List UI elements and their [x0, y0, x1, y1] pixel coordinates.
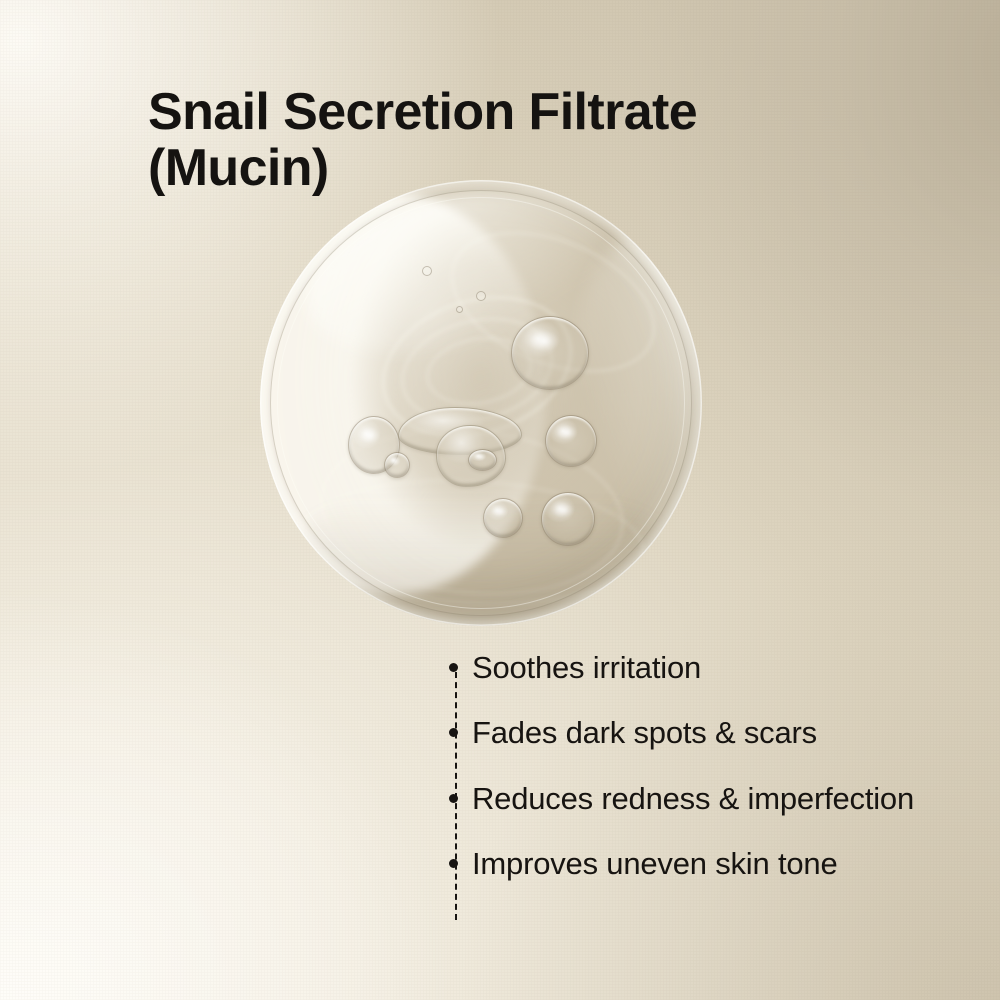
bubble-tiny-center — [468, 449, 497, 471]
page-title-line-1: Snail Secretion Filtrate — [148, 84, 848, 140]
micro-bubble-upper-c — [456, 306, 463, 313]
ingredient-poster: Snail Secretion Filtrate (Mucin) — [0, 0, 1000, 1000]
benefits-list: Soothes irritation Fades dark spots & sc… — [449, 648, 919, 883]
benefit-text-3: Reduces redness & imperfection — [472, 779, 914, 818]
benefit-text-1: Soothes irritation — [472, 648, 701, 687]
benefit-item-4: Improves uneven skin tone — [449, 844, 919, 883]
serum-droplet-image — [260, 180, 702, 626]
bullet-dot-icon — [449, 794, 458, 803]
bubble-tiny-left — [384, 452, 410, 478]
bullet-dot-icon — [449, 663, 458, 672]
bullet-dot-icon — [449, 859, 458, 868]
bullet-dot-icon — [449, 728, 458, 737]
benefit-item-3: Reduces redness & imperfection — [449, 779, 919, 818]
benefit-item-2: Fades dark spots & scars — [449, 713, 919, 752]
micro-bubble-upper-a — [422, 266, 432, 276]
sphere-body — [260, 180, 702, 626]
benefit-text-2: Fades dark spots & scars — [472, 713, 817, 752]
benefit-item-1: Soothes irritation — [449, 648, 919, 687]
sphere-right-highlight — [570, 238, 698, 538]
bubble-large-upper-right — [511, 316, 589, 390]
bubble-mid-right — [545, 415, 597, 467]
page-title: Snail Secretion Filtrate (Mucin) — [148, 84, 848, 196]
micro-bubble-upper-b — [476, 291, 486, 301]
page-title-line-2: (Mucin) — [148, 140, 848, 196]
sphere-bottom-shading — [292, 482, 672, 626]
benefit-text-4: Improves uneven skin tone — [472, 844, 838, 883]
